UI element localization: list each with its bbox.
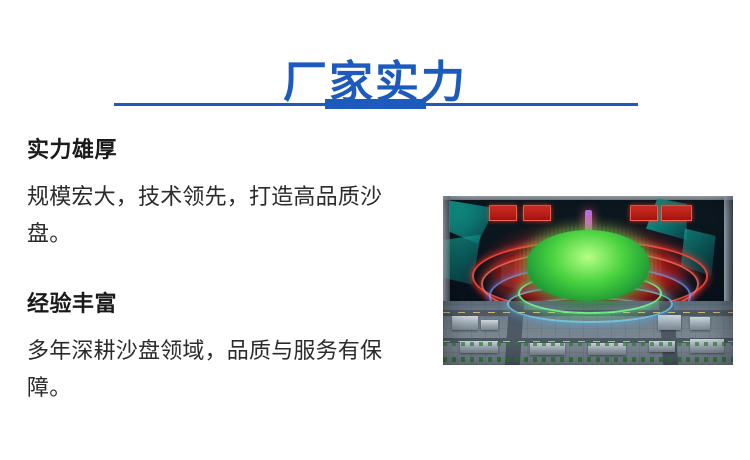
green-lit-platform bbox=[527, 230, 649, 301]
wall-pillar-left bbox=[443, 196, 450, 304]
feature-body-1: 规模宏大，技术领先，打造高品质沙盘。 bbox=[27, 178, 419, 252]
model-building bbox=[452, 316, 478, 330]
red-screen-panel bbox=[523, 205, 551, 221]
sandtable-photo bbox=[443, 196, 733, 365]
model-building bbox=[481, 320, 498, 330]
red-screen-panel bbox=[661, 205, 692, 221]
feature-spacer bbox=[27, 274, 427, 290]
red-screen-panel bbox=[630, 205, 658, 221]
slide-page: 厂家实力 实力雄厚 规模宏大，技术领先，打造高品质沙盘。 经验丰富 多年深耕沙盘… bbox=[0, 0, 750, 460]
photo-canvas bbox=[443, 196, 733, 365]
wall-top-bar bbox=[443, 196, 733, 200]
feature-body-2: 多年深耕沙盘领域，品质与服务有保障。 bbox=[27, 332, 419, 406]
title-block: 厂家实力 bbox=[0, 28, 750, 139]
feature-heading-1: 实力雄厚 bbox=[27, 136, 427, 164]
divider-accent-segment bbox=[325, 99, 426, 109]
feature-item-1: 实力雄厚 规模宏大，技术领先，打造高品质沙盘。 bbox=[27, 136, 427, 252]
title-divider bbox=[0, 99, 750, 111]
feature-heading-2: 经验丰富 bbox=[27, 290, 427, 318]
red-screen-panel bbox=[489, 205, 517, 221]
tree-row bbox=[443, 342, 733, 346]
wall-pillar-right bbox=[724, 196, 733, 304]
tree-row bbox=[443, 357, 733, 363]
model-building bbox=[690, 317, 710, 330]
feature-item-2: 经验丰富 多年深耕沙盘领域，品质与服务有保障。 bbox=[27, 290, 427, 406]
model-building bbox=[658, 315, 681, 330]
feature-list: 实力雄厚 规模宏大，技术领先，打造高品质沙盘。 经验丰富 多年深耕沙盘领域，品质… bbox=[27, 136, 427, 406]
